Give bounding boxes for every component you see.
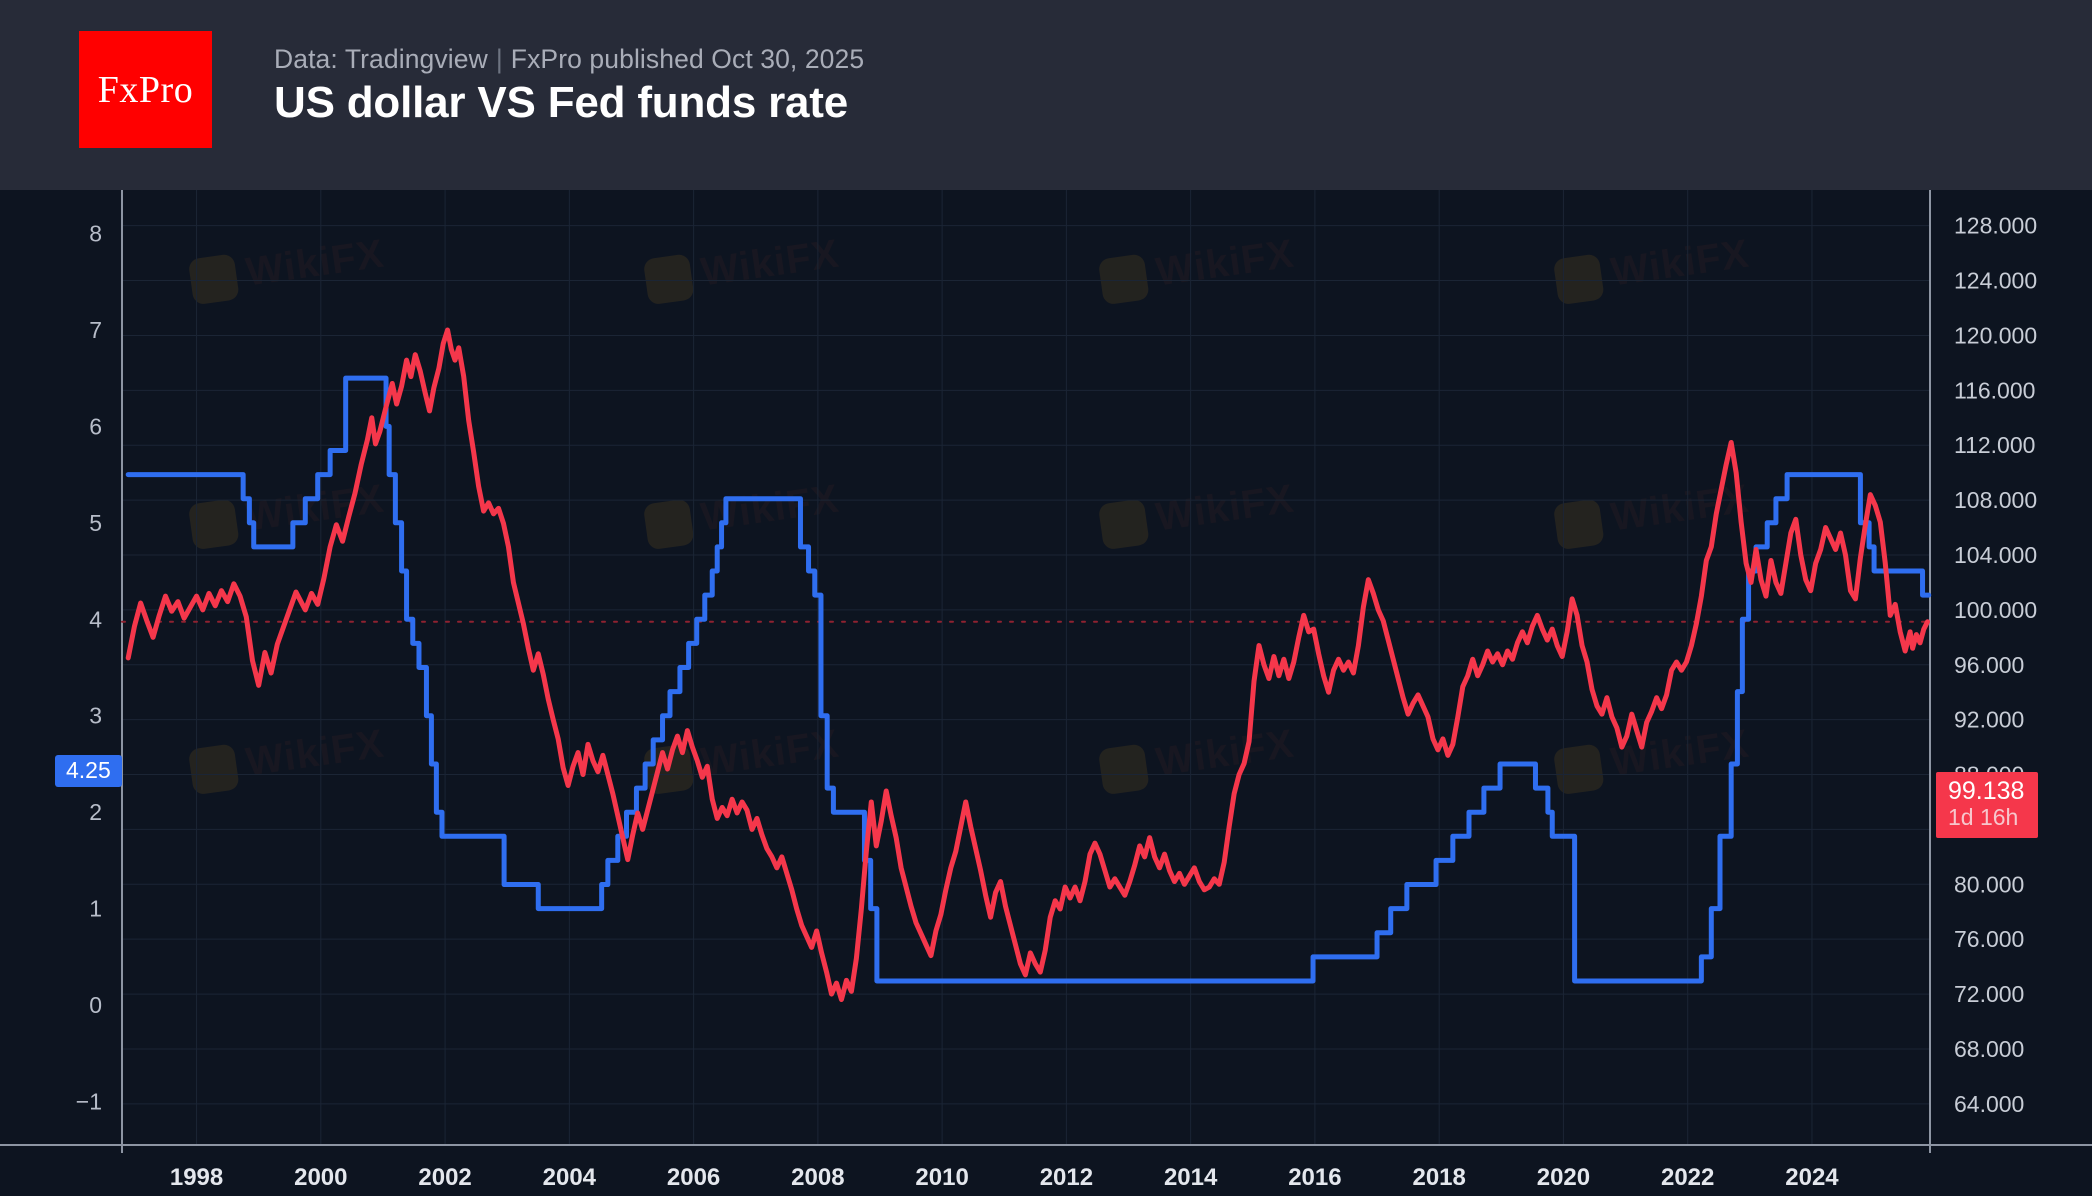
page-header: FxPro Data: Tradingview|FxPro published …: [0, 0, 2092, 190]
page-title: US dollar VS Fed funds rate: [274, 78, 848, 128]
fxpro-logo: FxPro: [79, 31, 212, 148]
y-tick-left: 8: [89, 220, 102, 246]
y-tick-left: 5: [89, 510, 102, 536]
x-tick-label: 2018: [1412, 1164, 1465, 1191]
x-tick-label: 2008: [791, 1164, 844, 1191]
x-tick-label: 2020: [1537, 1164, 1590, 1191]
x-tick-label: 1998: [170, 1164, 223, 1191]
y-tick-right: 64.000: [1954, 1091, 2024, 1117]
y-tick-right: 100.000: [1954, 597, 2037, 623]
x-axis-labels: 1998200020022004200620082010201220142016…: [170, 1164, 1839, 1191]
y-tick-right: 120.000: [1954, 322, 2037, 348]
x-tick-label: 2002: [418, 1164, 471, 1191]
y-axis-right-labels: 128.000124.000120.000116.000112.000108.0…: [1954, 213, 2037, 1117]
y-tick-right: 68.000: [1954, 1036, 2024, 1062]
y-axis-left-labels: 876543210−1: [76, 220, 102, 1114]
y-tick-left: −1: [76, 1089, 102, 1115]
chart-screenshot: FxPro Data: Tradingview|FxPro published …: [0, 0, 2092, 1196]
x-tick-label: 2024: [1785, 1164, 1839, 1191]
dxy-price-badge[interactable]: 99.138 1d 16h: [1936, 772, 2038, 838]
x-tick-label: 2012: [1040, 1164, 1093, 1191]
x-tick-label: 2016: [1288, 1164, 1341, 1191]
fxpro-logo-text: FxPro: [98, 68, 193, 112]
y-tick-right: 96.000: [1954, 652, 2024, 678]
y-tick-right: 92.000: [1954, 707, 2024, 733]
y-tick-right: 116.000: [1954, 377, 2035, 403]
y-tick-left: 2: [89, 799, 102, 825]
y-tick-left: 1: [89, 896, 102, 922]
header-subtitle: Data: Tradingview|FxPro published Oct 30…: [274, 44, 864, 75]
y-tick-left: 4: [89, 606, 102, 632]
y-tick-right: 108.000: [1954, 487, 2037, 513]
x-tick-label: 2022: [1661, 1164, 1714, 1191]
publisher-label: FxPro published Oct 30, 2025: [511, 44, 864, 74]
price-chart[interactable]: 876543210−1128.000124.000120.000116.0001…: [0, 190, 2092, 1196]
y-tick-left: 0: [89, 992, 102, 1018]
dxy-price-value: 99.138: [1948, 777, 2024, 805]
dxy-countdown: 1d 16h: [1948, 805, 2024, 831]
x-tick-label: 2000: [294, 1164, 347, 1191]
y-tick-right: 112.000: [1954, 432, 2035, 458]
x-tick-label: 2014: [1164, 1164, 1218, 1191]
fed-funds-value-badge[interactable]: 4.25: [55, 755, 122, 787]
x-tick-label: 2006: [667, 1164, 720, 1191]
y-tick-left: 6: [89, 413, 102, 439]
y-tick-left: 3: [89, 703, 102, 729]
grid-lines: [122, 190, 1930, 1145]
series-line-fed-funds: [128, 378, 1929, 981]
y-tick-right: 76.000: [1954, 926, 2024, 952]
axis-lines: [0, 190, 2092, 1153]
y-tick-right: 80.000: [1954, 871, 2024, 897]
y-tick-left: 7: [89, 317, 102, 343]
y-tick-right: 104.000: [1954, 542, 2037, 568]
chart-area[interactable]: WikiFXWikiFXWikiFXWikiFXWikiFXWikiFXWiki…: [0, 190, 2092, 1196]
data-source-label: Data: Tradingview: [274, 44, 488, 74]
y-tick-right: 128.000: [1954, 213, 2037, 239]
y-tick-right: 124.000: [1954, 268, 2037, 294]
x-tick-label: 2004: [543, 1164, 597, 1191]
header-separator: |: [496, 44, 503, 74]
x-tick-label: 2010: [915, 1164, 968, 1191]
y-tick-right: 72.000: [1954, 981, 2024, 1007]
